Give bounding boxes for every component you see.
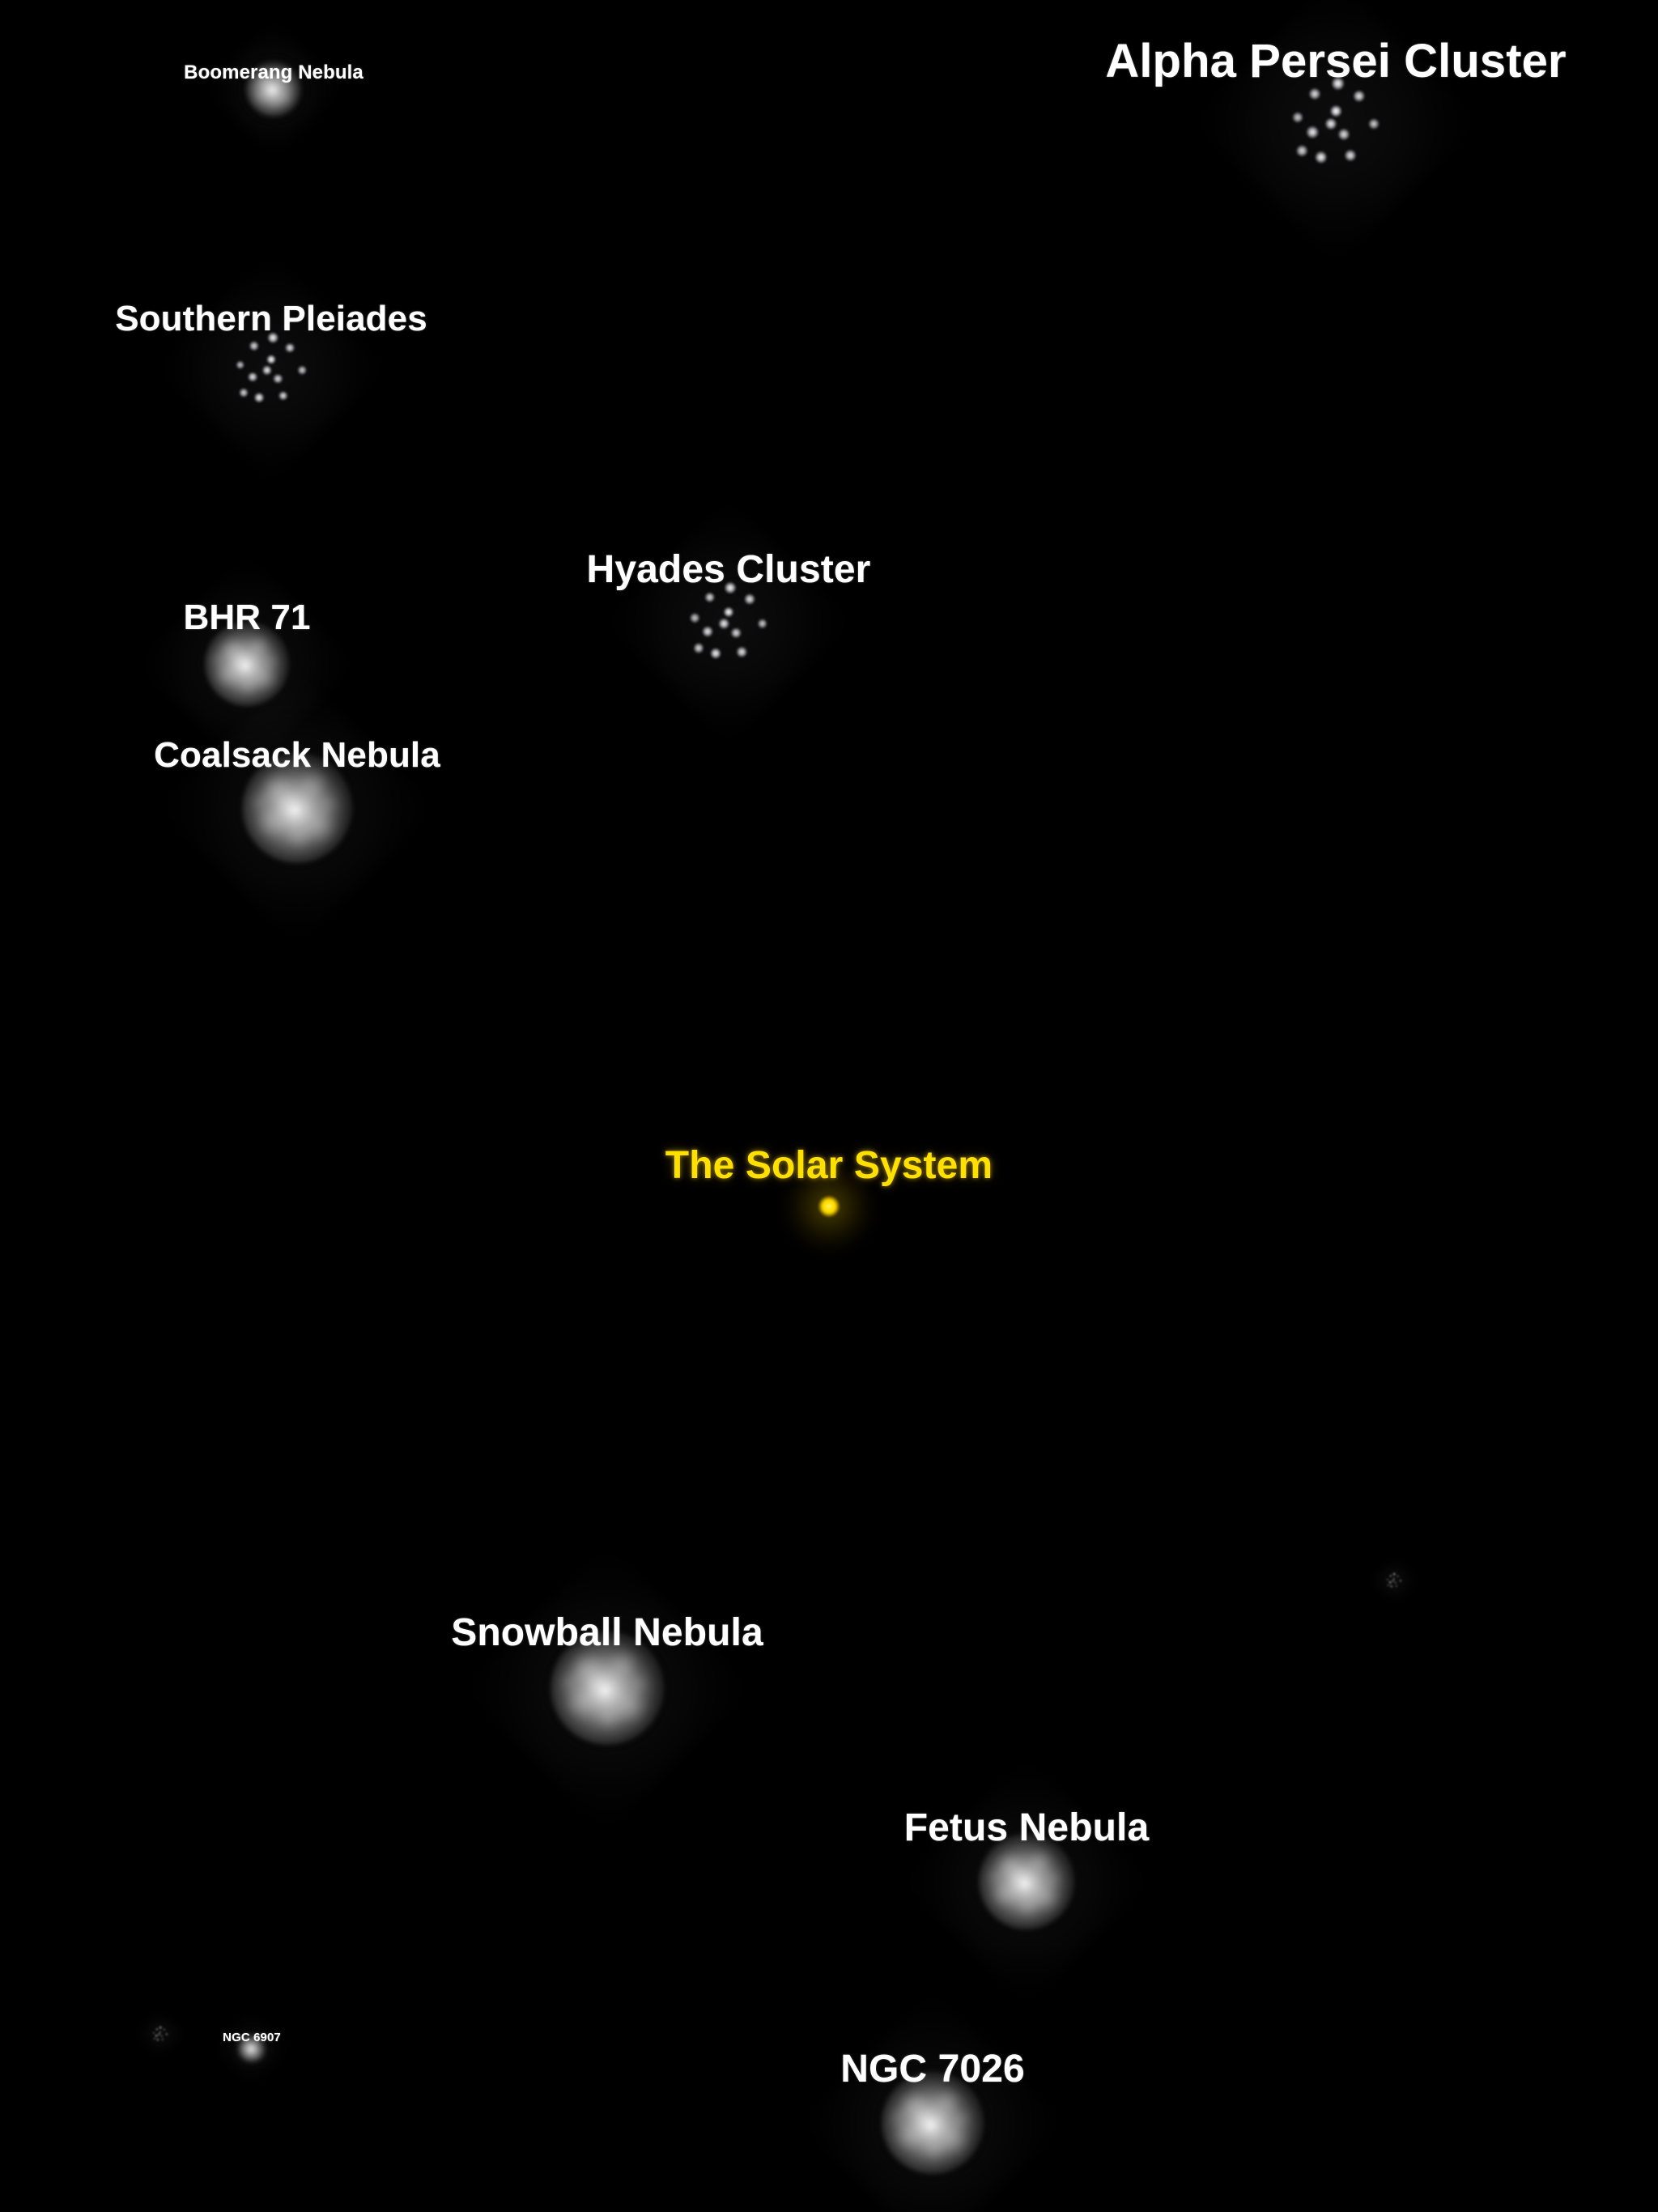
cluster-star	[1345, 150, 1356, 161]
star-cluster	[151, 2025, 169, 2043]
cluster-star	[1330, 105, 1341, 117]
cluster-star	[1316, 151, 1328, 164]
cluster-star	[1400, 1580, 1401, 1581]
cluster-star	[268, 332, 278, 342]
cluster-star	[710, 649, 721, 659]
cluster-star	[1338, 129, 1350, 140]
cluster-star	[164, 2028, 165, 2030]
cluster-star	[1387, 1579, 1388, 1580]
cluster-star	[161, 2035, 163, 2036]
cluster-star	[1293, 112, 1303, 122]
nebula-body	[551, 1631, 664, 1745]
cluster-star	[1297, 146, 1308, 157]
nebula-body	[979, 1834, 1074, 1929]
cluster-star	[1391, 1585, 1392, 1587]
cluster-star	[153, 2032, 155, 2034]
star-cluster	[1283, 69, 1388, 174]
cluster-star	[690, 614, 699, 623]
cluster-star	[1389, 1581, 1391, 1583]
cluster-star	[262, 365, 271, 374]
nebula-texture	[249, 64, 300, 115]
nebula-body	[246, 62, 301, 117]
cluster-star	[274, 374, 283, 383]
cluster-star	[719, 619, 729, 629]
cluster-star	[1397, 1575, 1399, 1576]
cluster-star	[285, 343, 295, 353]
object-label: The Solar System	[665, 1143, 993, 1188]
cluster-star	[705, 593, 716, 603]
cluster-star	[1309, 88, 1320, 100]
nebula-body	[238, 2035, 266, 2062]
star-cluster	[228, 325, 314, 411]
cluster-star	[744, 594, 755, 605]
cluster-star	[724, 607, 733, 617]
star-cluster	[682, 575, 776, 669]
cluster-star	[694, 643, 704, 653]
nebula-texture	[239, 2035, 264, 2061]
cluster-star	[298, 366, 307, 375]
nebula-texture	[983, 1838, 1071, 1926]
cluster-star	[1388, 1585, 1389, 1586]
cluster-star	[240, 388, 249, 397]
nebula-texture	[208, 625, 286, 703]
star-cluster	[1385, 1572, 1403, 1589]
star-map-canvas[interactable]: Boomerang NebulaAlpha Persei ClusterSout…	[0, 0, 1658, 2212]
sun-icon	[818, 1196, 840, 1217]
cluster-star	[1395, 1581, 1397, 1583]
cluster-star	[154, 2038, 155, 2040]
cluster-star	[254, 393, 264, 402]
nebula-texture	[886, 2076, 980, 2170]
cluster-star	[758, 619, 767, 629]
nebula-body	[882, 2072, 984, 2174]
cluster-star	[236, 360, 245, 369]
cluster-star	[703, 626, 713, 636]
nebula-body	[205, 622, 289, 706]
nebula-texture	[246, 757, 347, 858]
cluster-star	[162, 2039, 164, 2040]
cluster-star	[725, 582, 736, 593]
cluster-star	[248, 372, 257, 382]
cluster-star	[155, 2035, 157, 2036]
cluster-star	[155, 2028, 157, 2030]
cluster-star	[1389, 1575, 1391, 1576]
cluster-star	[266, 355, 275, 364]
cluster-star	[1353, 91, 1365, 103]
cluster-star	[1307, 126, 1319, 138]
cluster-star	[159, 2027, 162, 2029]
cluster-star	[1396, 1585, 1397, 1587]
nebula-texture	[555, 1636, 660, 1741]
cluster-star	[157, 2039, 159, 2040]
cluster-star	[737, 647, 747, 657]
nebula-body	[242, 753, 352, 863]
cluster-star	[166, 2033, 168, 2035]
cluster-star	[1368, 118, 1379, 129]
cluster-star	[1332, 77, 1345, 90]
cluster-star	[1393, 1573, 1396, 1576]
cluster-star	[731, 628, 742, 639]
cluster-star	[249, 342, 258, 351]
cluster-star	[278, 391, 287, 400]
cluster-star	[1324, 118, 1336, 130]
